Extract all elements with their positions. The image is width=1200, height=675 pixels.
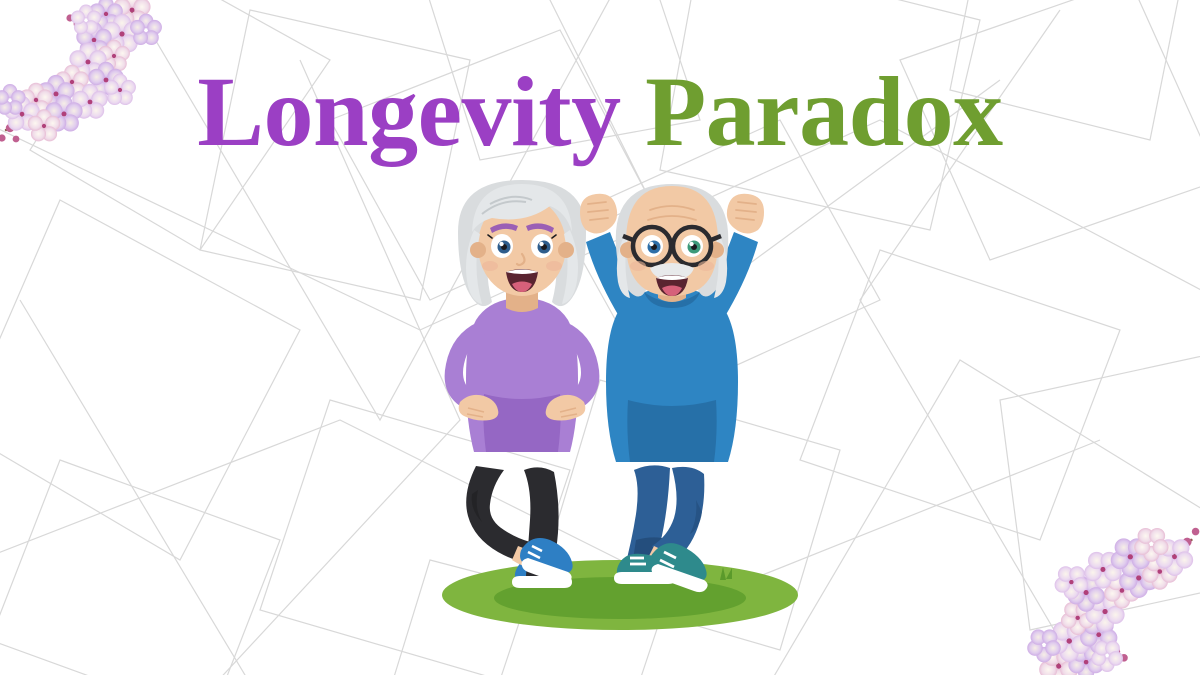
slide-canvas: Longevity Paradox <box>0 0 1200 675</box>
title-word-longevity: Longevity <box>197 56 620 167</box>
elderly-woman-figure <box>445 180 600 588</box>
title-word-paradox: Paradox <box>645 56 1003 167</box>
cherry-blossom-branch-bottom-right <box>1004 481 1200 675</box>
woman-sweater <box>466 298 578 452</box>
elderly-man-figure <box>580 184 764 592</box>
senior-couple-illustration <box>420 170 820 650</box>
man-sweater <box>606 288 738 462</box>
page-title: Longevity Paradox <box>0 62 1200 162</box>
